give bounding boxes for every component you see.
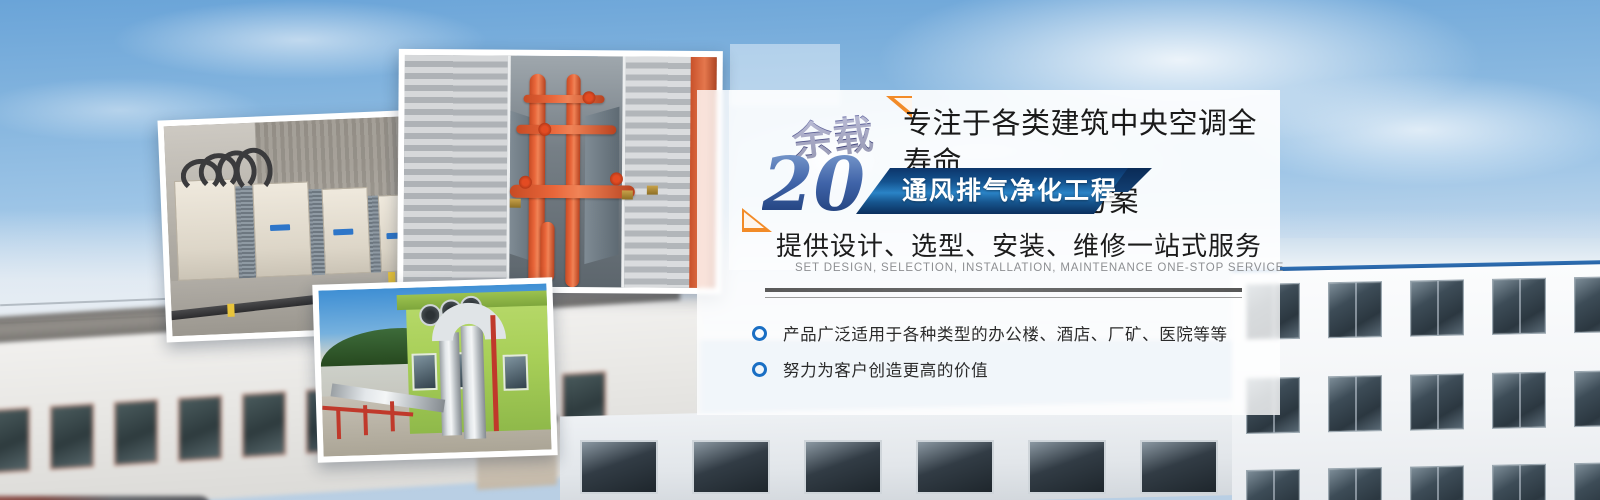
foreground-window [804, 440, 882, 494]
photo-red-piping [397, 49, 723, 294]
foreground-window [692, 440, 770, 494]
list-item-label: 努力为客户创造更高的价值 [783, 357, 988, 381]
list-item: 产品广泛适用于各种类型的办公楼、酒店、厂矿、医院等等 [752, 315, 1272, 351]
foreground-window [916, 440, 994, 494]
brass-fitting [510, 199, 521, 208]
building-window [1492, 464, 1546, 500]
building-window [1328, 467, 1382, 500]
building-window [1574, 276, 1600, 333]
photo-scene [403, 55, 717, 288]
foreground-window [1140, 440, 1218, 494]
building-window [1410, 373, 1464, 430]
pipe-valve-wheel [610, 172, 623, 185]
yellow-marker [227, 304, 235, 317]
building-window [114, 399, 158, 466]
feature-bullet-list: 产品广泛适用于各种类型的办公楼、酒店、厂矿、医院等等 努力为客户创造更高的价值 [752, 315, 1272, 387]
arrow-bottom-left-icon [742, 208, 772, 232]
list-item-label: 产品广泛适用于各种类型的办公楼、酒店、厂矿、医院等等 [783, 321, 1228, 345]
foreground-window [580, 440, 658, 494]
brass-fitting [622, 190, 633, 199]
hvac-promo-banner: 余载 20 专注于各类建筑中央空调全寿命 周期整体解决方案 通风排气净化工程 提… [0, 0, 1600, 500]
service-ribbon[interactable]: 通风排气净化工程 [856, 168, 1186, 214]
building-window [0, 407, 30, 474]
divider-thin [765, 297, 1242, 298]
bullet-ring-icon [752, 326, 767, 341]
list-item: 努力为客户创造更高的价值 [752, 351, 1272, 387]
chilled-water-pipe [565, 75, 580, 288]
ac-outdoor-unit [174, 178, 239, 281]
parked-cars [0, 496, 210, 500]
pipe-valve-wheel [582, 91, 595, 104]
photo-duct-roof [312, 277, 557, 462]
bullet-ring-icon [752, 362, 767, 377]
building-window-row [1246, 276, 1600, 340]
chilled-water-pipe [517, 125, 617, 135]
building-window [412, 353, 438, 390]
building-window [1574, 370, 1600, 427]
anniversary-years-number: 20 [762, 148, 865, 222]
photo-scene [318, 283, 551, 456]
building-window [1574, 462, 1600, 500]
building-window-row [1246, 370, 1600, 434]
building-window [1246, 469, 1300, 500]
subhead-en: SET DESIGN, SELECTION, INSTALLATION, MAI… [795, 262, 1265, 274]
chiller-module-left [403, 55, 511, 287]
ribbon-label: 通风排气净化工程 [902, 168, 1118, 214]
building-window [1492, 278, 1546, 335]
building-window [1410, 279, 1464, 336]
daikin-logo-badge [270, 224, 290, 231]
foreground-window [1028, 440, 1106, 494]
brass-fitting [647, 186, 658, 195]
building-window [50, 403, 94, 470]
building-window [1410, 465, 1464, 500]
building-window [503, 354, 529, 391]
chilled-water-pipe [540, 222, 554, 282]
daikin-logo-badge [333, 228, 353, 235]
building-window [1328, 281, 1382, 338]
building-window [242, 391, 286, 458]
foreground-window-row [580, 440, 1270, 500]
building-window [178, 395, 222, 462]
building-window [1492, 372, 1546, 429]
subhead-cn: 提供设计、选型、安装、维修一站式服务 [776, 226, 1276, 263]
background-building-right [1232, 238, 1600, 500]
divider-thick [765, 288, 1242, 292]
building-window [1328, 375, 1382, 432]
